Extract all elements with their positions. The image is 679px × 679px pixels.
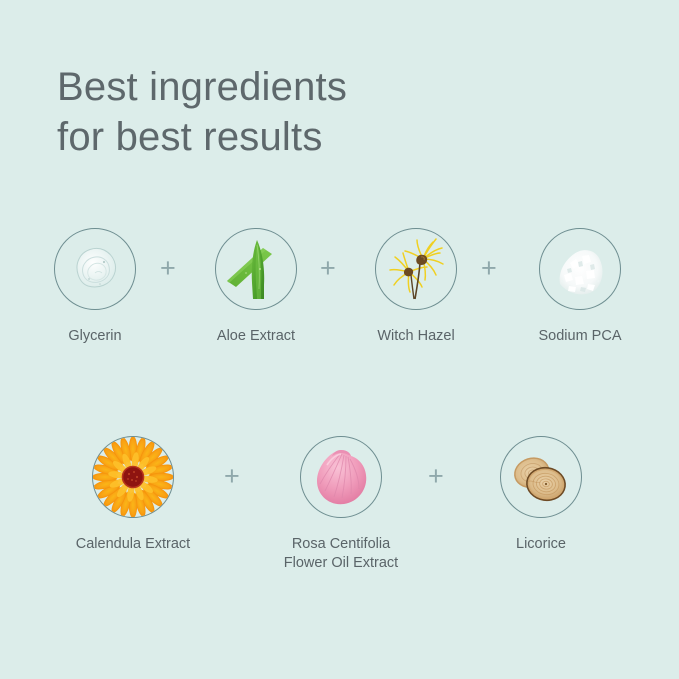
ingredient-label: Witch Hazel xyxy=(321,327,511,346)
page-heading: Best ingredients for best results xyxy=(57,62,347,162)
ingredient-circle xyxy=(539,228,621,310)
ingredient-circle xyxy=(92,436,174,518)
ingredient-sodium-pca: Sodium PCA xyxy=(485,228,675,346)
ingredient-rosa-centifolia: Rosa Centifolia Flower Oil Extract xyxy=(246,436,436,573)
ingredient-licorice: Licorice xyxy=(446,436,636,554)
ingredient-label: Rosa Centifolia Flower Oil Extract xyxy=(246,535,436,573)
ingredient-calendula-extract: Calendula Extract xyxy=(38,436,228,554)
calendula-flower-icon xyxy=(93,437,173,517)
ingredient-circle xyxy=(54,228,136,310)
witch-hazel-flower-icon xyxy=(376,229,456,309)
ingredient-label: Sodium PCA xyxy=(485,327,675,346)
ingredient-circle xyxy=(375,228,457,310)
plus-separator: + xyxy=(428,463,444,490)
ingredient-witch-hazel: Witch Hazel xyxy=(321,228,511,346)
ingredient-circle xyxy=(215,228,297,310)
aloe-leaf-icon xyxy=(216,229,296,309)
plus-separator: + xyxy=(224,463,240,490)
ingredient-circle xyxy=(300,436,382,518)
licorice-root-slices-icon xyxy=(501,437,581,517)
rose-petal-icon xyxy=(301,437,381,517)
ingredient-label: Licorice xyxy=(446,535,636,554)
salt-crystal-powder-icon xyxy=(540,229,620,309)
ingredient-circle xyxy=(500,436,582,518)
ingredient-label: Calendula Extract xyxy=(38,535,228,554)
glycerin-gel-icon xyxy=(55,229,135,309)
